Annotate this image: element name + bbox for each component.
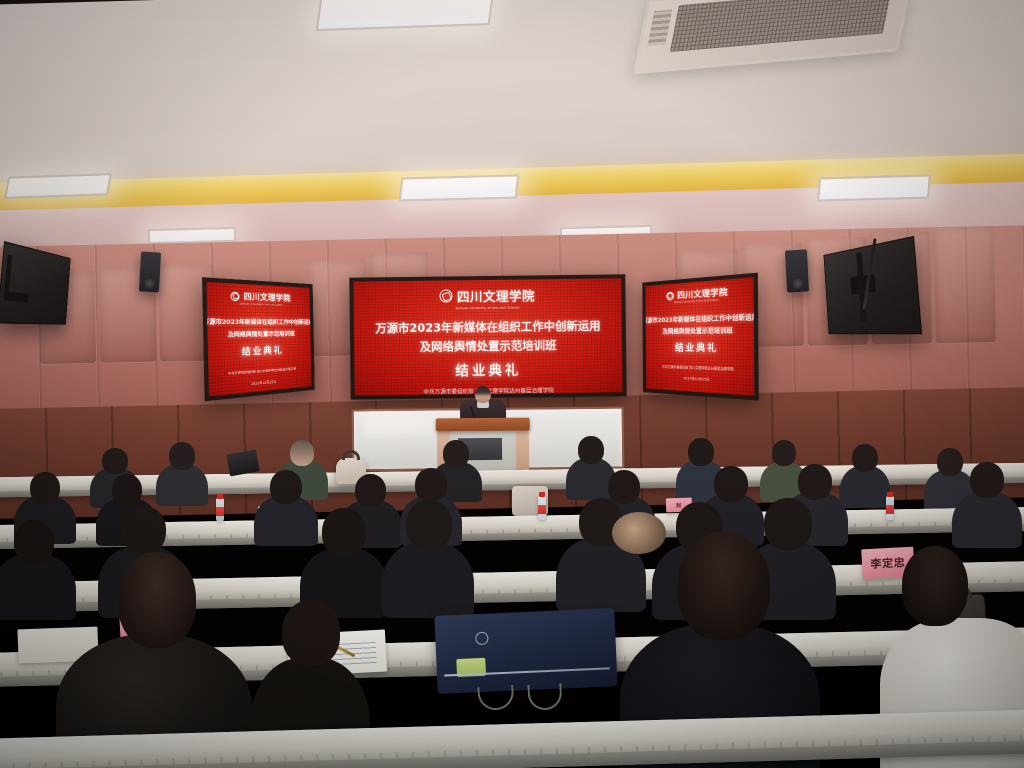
attendee-head <box>798 464 832 500</box>
attendee-head <box>118 552 196 648</box>
podium-side <box>515 430 529 476</box>
attendee-head <box>322 508 366 556</box>
attendee-head <box>443 440 469 468</box>
tv-mount-bracket <box>5 292 28 303</box>
screen-headline: 结业典礼 <box>242 342 284 358</box>
institution-name-cn: 四川文理学院 <box>457 285 535 305</box>
screen-title-line1: 万源市2023年新媒体在组织工作中创新运用 <box>645 312 754 325</box>
bottle-cap <box>887 492 893 497</box>
speaker-cone <box>792 278 804 290</box>
left-led-screen-surface: 四川文理学院 Sichuan University of Arts and Sc… <box>206 282 311 397</box>
attendee-head <box>678 532 770 640</box>
water-bottle <box>216 498 224 522</box>
right-led-screen[interactable]: 四川文理学院 Sichuan University of Arts and Sc… <box>642 273 758 401</box>
attendee-head <box>688 438 714 466</box>
attendee-torso <box>382 542 474 618</box>
attendee-torso <box>952 492 1022 548</box>
attendee-head <box>30 472 60 504</box>
speaker-cone <box>144 278 156 290</box>
attendee-head <box>112 474 142 506</box>
ceiling-speaker-left <box>139 252 161 293</box>
screen-headline: 结业典礼 <box>675 340 719 354</box>
ceiling-speaker-right <box>785 249 809 292</box>
bottle-label <box>538 505 546 514</box>
screen-title-line1: 万源市2023年新媒体在组织工作中创新运用 <box>375 318 601 337</box>
screen-date: 2023年12月15日 <box>683 376 709 382</box>
bag-handle <box>477 685 515 711</box>
center-led-screen-surface: 四川文理学院 Sichuan University of Arts and Sc… <box>353 278 622 395</box>
institution-logo-row: 四川文理学院 <box>440 285 535 305</box>
lecture-hall-photo: 四川文理学院 Sichuan University of Arts and Sc… <box>0 0 1024 768</box>
bottle-label <box>886 505 894 514</box>
water-bottle <box>886 496 894 520</box>
presenter-head <box>475 386 491 403</box>
screen-title-line2: 及网络舆情处置示范培训班 <box>662 325 732 335</box>
attendee-head <box>714 466 748 502</box>
attendee-head <box>406 500 452 550</box>
attendee-head <box>282 600 340 666</box>
screen-title-line2: 及网络舆情处置示范培训班 <box>228 329 295 339</box>
attendee-head <box>122 506 166 554</box>
screen-headline: 结业典礼 <box>455 359 521 380</box>
ceiling-panel-light <box>817 175 931 202</box>
ceiling-panel-light <box>4 173 112 199</box>
attendee-head <box>970 462 1004 498</box>
attendee-head <box>290 440 314 466</box>
university-emblem-icon <box>440 289 453 302</box>
bottle-cap <box>217 494 223 499</box>
ac-grille <box>670 0 892 52</box>
institution-name-en: Sichuan University of Arts and Science <box>240 302 284 306</box>
ceiling-panel-light <box>399 174 520 201</box>
attendee <box>156 442 208 500</box>
attendee-head <box>578 436 604 464</box>
conference-document-bag <box>434 608 617 694</box>
right-led-screen-surface: 四川文理学院 Sichuan University of Arts and Sc… <box>645 277 754 396</box>
attendee <box>300 508 388 614</box>
institution-name-en: Sichuan University of Arts and Science <box>456 306 520 311</box>
attendee-torso <box>156 464 208 506</box>
podium-top-surface <box>436 418 530 432</box>
screen-title-line2: 及网络舆情处置示范培训班 <box>420 337 557 355</box>
bottle-cap <box>539 492 545 497</box>
ac-vane <box>647 10 672 46</box>
screen-organizers: 中共万源市委组织部 四川文理学院达州基层治理学院 <box>662 364 734 371</box>
wall-pad <box>933 226 995 343</box>
screen-title-line1: 万源市2023年新媒体在组织工作中创新运用 <box>206 316 311 326</box>
bag-handle <box>527 683 562 711</box>
university-emblem-icon <box>231 291 240 301</box>
attendee <box>382 500 474 614</box>
attendee-head <box>415 468 447 502</box>
attendee-head <box>902 546 968 626</box>
attendee-head <box>14 520 54 564</box>
university-emblem-icon <box>666 291 674 300</box>
bottle-label <box>216 507 224 516</box>
bag-logo <box>451 623 513 654</box>
attendee-head <box>270 470 302 504</box>
center-led-screen[interactable]: 四川文理学院 Sichuan University of Arts and Sc… <box>349 274 626 399</box>
attendee-head <box>102 448 128 474</box>
attendee <box>952 462 1022 542</box>
water-bottle <box>538 496 546 520</box>
screen-date: 2023年12月15日 <box>251 379 276 386</box>
bag-logo-emblem-icon <box>475 632 489 646</box>
attendee-head <box>169 442 195 470</box>
screen-organizers: 中共万源市委组织部 四川文理学院达州基层治理学院 <box>228 366 296 376</box>
attendee-head <box>772 440 796 466</box>
left-led-screen[interactable]: 四川文理学院 Sichuan University of Arts and Sc… <box>202 277 315 401</box>
attendee-head <box>852 444 878 472</box>
